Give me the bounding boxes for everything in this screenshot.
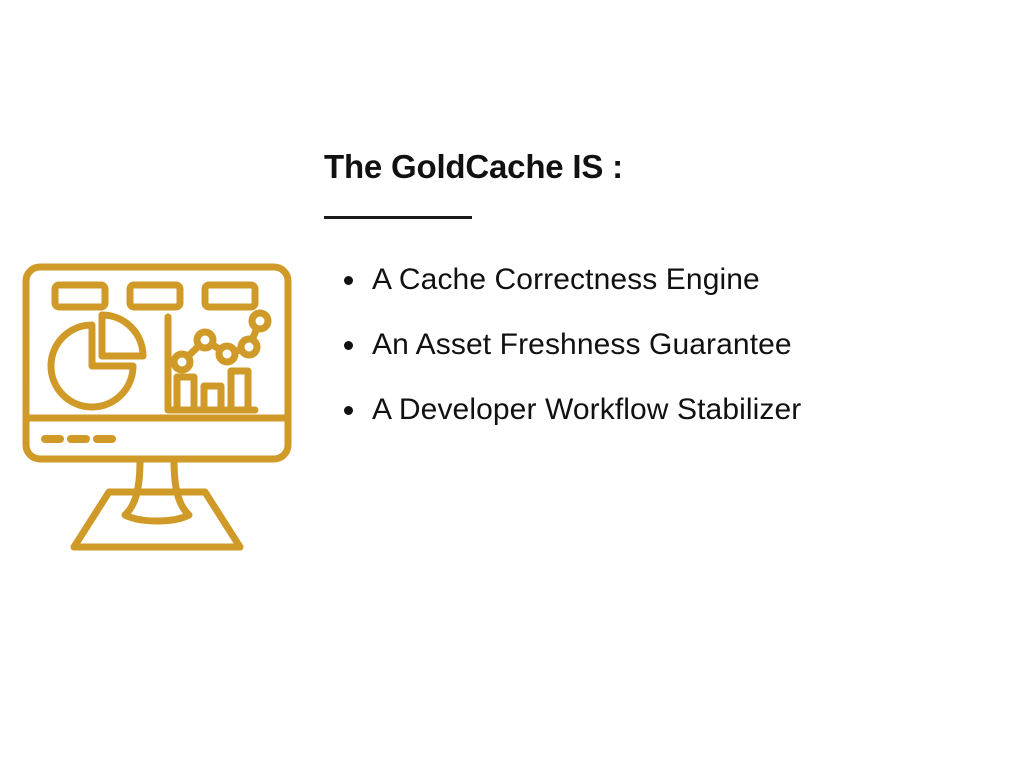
slide-canvas: The GoldCache IS : A Cache Correctness E… [0, 0, 1024, 768]
data-point-icon-1 [174, 354, 190, 370]
pie-chart-icon-body [51, 325, 133, 407]
bar-icon-3 [231, 371, 248, 410]
bar-icon-2 [204, 386, 221, 410]
bullet-list: A Cache Correctness Engine An Asset Fres… [324, 259, 984, 432]
text-content-column: The GoldCache IS : A Cache Correctness E… [324, 148, 984, 432]
data-point-icon-2 [197, 332, 213, 348]
data-point-icon-3 [219, 346, 235, 362]
bar-icon-1 [177, 377, 194, 410]
list-item: A Developer Workflow Stabilizer [324, 389, 972, 432]
page-title: The GoldCache IS : [324, 148, 984, 186]
monitor-illustration-svg [12, 255, 312, 555]
pie-chart-icon-slice [102, 315, 143, 356]
data-point-icon-5 [252, 313, 268, 329]
list-item: A Cache Correctness Engine [324, 259, 972, 302]
list-item: An Asset Freshness Guarantee [324, 324, 972, 367]
analytics-dashboard-monitor-illustration [12, 255, 312, 555]
monitor-frame-icon [26, 267, 288, 459]
title-divider [324, 216, 472, 219]
data-point-icon-4 [241, 339, 257, 355]
kpi-tile-icon-3 [205, 285, 255, 307]
kpi-tile-icon-1 [55, 285, 105, 307]
kpi-tile-icon-2 [130, 285, 180, 307]
